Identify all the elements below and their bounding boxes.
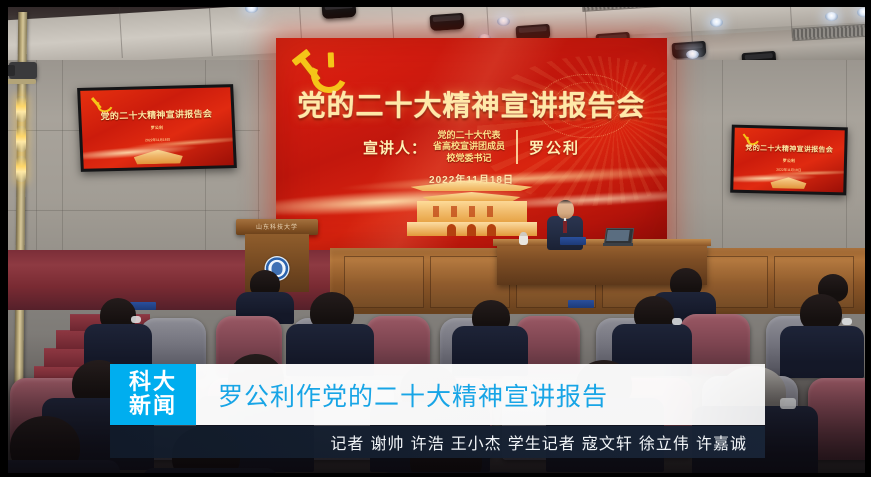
side-left-title: 党的二十大精神宣讲报告会 xyxy=(81,106,232,123)
side-display-right: 党的二十大精神宣讲报告会 罗公利 2022年11月18日 xyxy=(730,125,848,196)
headline-bar: 罗公利作党的二十大精神宣讲报告 xyxy=(196,364,765,425)
ceiling-spotlight xyxy=(686,50,699,59)
tiananmen-arch xyxy=(467,224,476,236)
credit-text: 记者 谢帅 许浩 王小杰 学生记者 寇文轩 徐立伟 许嘉诚 xyxy=(330,430,747,454)
wall-seam xyxy=(0,210,260,211)
tiananmen-window xyxy=(433,206,439,217)
tiananmen-window xyxy=(469,206,475,217)
speaker-label: 宣讲人： xyxy=(363,137,427,158)
speaker-role: 党的二十大代表 xyxy=(433,130,505,141)
ceiling-speaker xyxy=(321,1,356,19)
tiananmen-window xyxy=(451,206,457,217)
channel-badge-line2: 新闻 xyxy=(129,395,177,418)
ceiling-spotlight xyxy=(825,12,838,21)
laptop-base xyxy=(603,243,633,246)
channel-badge-line1: 科大 xyxy=(129,371,177,394)
camera-icon xyxy=(9,62,37,79)
ceiling-speaker xyxy=(429,13,464,31)
side-display-right-screen: 党的二十大精神宣讲报告会 罗公利 2022年11月18日 xyxy=(733,128,844,193)
credit-bar: 记者 谢帅 许浩 王小杰 学生记者 寇文轩 徐立伟 许嘉诚 xyxy=(110,426,765,458)
tiananmen-window xyxy=(487,206,493,217)
side-right-title: 党的二十大精神宣讲报告会 xyxy=(734,143,844,156)
name-placard xyxy=(560,237,586,245)
speaker-tie xyxy=(563,221,567,233)
name-placard xyxy=(568,300,594,308)
side-display-left: 党的二十大精神宣讲报告会 罗公利 2022年11月18日 xyxy=(77,84,237,172)
channel-badge: 科大 新闻 xyxy=(110,364,196,425)
headline-text: 罗公利作党的二十大精神宣讲报告 xyxy=(218,377,608,413)
main-led-screen: 党的二十大精神宣讲报告会 宣讲人： 党的二十大代表 省高校宣讲团成员 校党委书记… xyxy=(276,38,667,250)
tiananmen-arch xyxy=(487,224,496,236)
teacup xyxy=(519,235,528,245)
face-mask xyxy=(842,318,852,325)
ceiling-spotlight xyxy=(497,17,510,26)
tiananmen-roof xyxy=(411,180,533,191)
tiananmen-roof-upper xyxy=(423,192,521,201)
ceiling-spotlight xyxy=(857,8,870,17)
side-display-left-screen: 党的二十大精神宣讲报告会 罗公利 2022年11月18日 xyxy=(80,87,234,169)
speaker-role: 省高校宣讲团成员 xyxy=(433,141,505,152)
pole-lamp xyxy=(16,96,26,122)
pole-lamp xyxy=(16,156,26,182)
face-mask xyxy=(131,316,141,323)
laptop xyxy=(603,228,633,246)
tiananmen-arch xyxy=(447,224,456,236)
pole-lamp xyxy=(16,126,26,152)
video-frame: 党的二十大精神宣讲报告会 罗公利 2022年11月18日 党的二十大精神宣讲报告… xyxy=(0,0,871,477)
ceiling-spotlight xyxy=(710,18,723,27)
laptop-screen xyxy=(606,230,630,241)
ceiling-spotlight xyxy=(245,4,258,13)
screen-title: 党的二十大精神宣讲报告会 xyxy=(276,84,667,124)
podium-top: 山东科技大学 xyxy=(236,219,318,235)
pole-mount-plate xyxy=(6,79,36,84)
tiananmen-icon xyxy=(407,180,537,238)
podium-institution-text: 山东科技大学 xyxy=(236,222,318,231)
party-emblem-icon xyxy=(298,52,338,88)
speaker-head xyxy=(557,200,574,219)
face-mask xyxy=(672,318,682,325)
